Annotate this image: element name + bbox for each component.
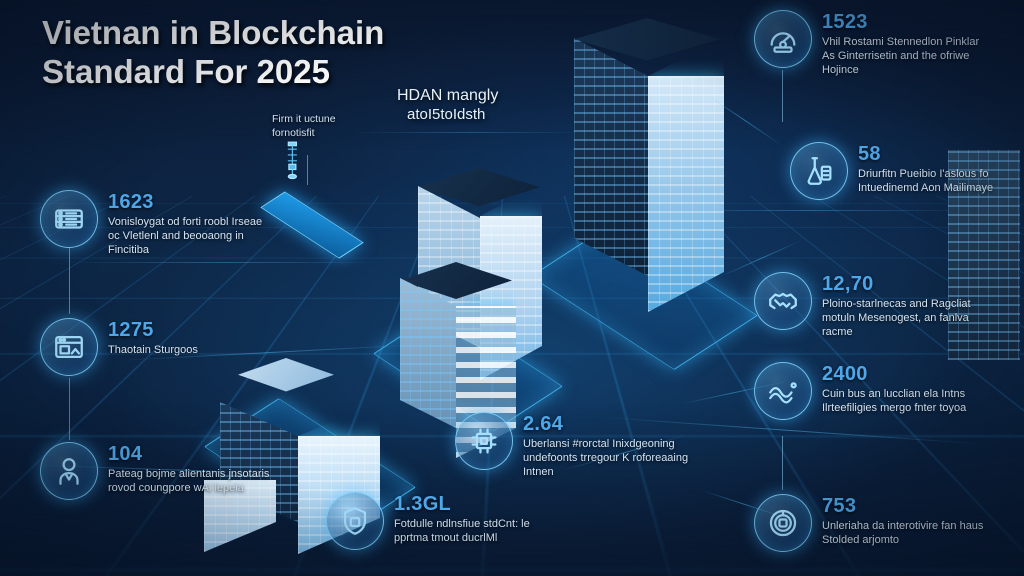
callout-right-3[interactable]: 12,70 Ploino-starlnecas and Ragcliat mot… <box>754 272 1016 339</box>
spiral-chip-icon <box>754 494 812 552</box>
callout-number: 1523 <box>822 12 992 33</box>
tower-left-windows <box>574 38 648 276</box>
microchip-icon <box>455 412 513 470</box>
callout-left-1[interactable]: 1623 Vonisloygat od forti roobl Irseae o… <box>40 190 270 257</box>
callout-right-1[interactable]: 1523 Vhil Rostami Stennedlon Pinklar As … <box>754 10 1016 77</box>
center-subtitle-line2: atoI5toIdsth <box>397 106 498 125</box>
callout-desc: Thaotain Sturgoos <box>108 343 198 357</box>
callout-text: 2400 Cuin bus an lucclian ela Intns Ilrt… <box>822 362 992 415</box>
infographic-canvas: Vietnan in Blockchain Standard For 2025 … <box>0 0 1024 576</box>
callout-left-3[interactable]: 104 Pateag bojme alientanis jnsotaris ro… <box>40 442 270 500</box>
callout-number: 1.3GL <box>394 494 564 515</box>
server-rack-icon <box>40 190 98 248</box>
callout-text: 1623 Vonisloygat od forti roobl Irseae o… <box>108 190 270 257</box>
callout-text: 1275 Thaotain Sturgoos <box>108 318 198 357</box>
callout-desc: Pateag bojme alientanis jnsotaris rovod … <box>108 467 270 495</box>
crane-caption-line2: fornotisfit <box>272 127 336 141</box>
callout-text: 1.3GL Fotdulle ndlnsfiue stdCnt: le pprt… <box>394 492 564 545</box>
connector-stem <box>307 155 308 185</box>
central-tower <box>568 18 740 318</box>
connector-stem <box>782 70 783 122</box>
tower-left-face <box>574 38 648 276</box>
shield-icon <box>326 492 384 550</box>
connector-stem <box>69 248 70 314</box>
callout-desc: Fotdulle ndlnsfiue stdCnt: le pprtma tmo… <box>394 517 564 545</box>
wave-icon <box>754 362 812 420</box>
center-subtitle-line1: HDAN mangly <box>397 86 498 106</box>
callout-number: 58 <box>858 144 1016 165</box>
apartment-left-face <box>400 278 456 428</box>
callout-text: 753 Unleriaha da interotivire fan haus S… <box>822 494 992 547</box>
callout-text: 58 Driurfitn Pueibio I'aslous fo Intuedi… <box>858 142 1016 195</box>
callout-left-2[interactable]: 1275 Thaotain Sturgoos <box>40 318 270 376</box>
callout-desc: Ploino-starlnecas and Ragcliat motuln Me… <box>822 297 992 339</box>
callout-number: 2.64 <box>523 414 693 435</box>
callout-center-1[interactable]: 2.64 Uberlansi #rorctal Inixdgeoning und… <box>455 412 705 479</box>
callout-right-5[interactable]: 753 Unleriaha da interotivire fan haus S… <box>754 494 1016 552</box>
callout-text: 1523 Vhil Rostami Stennedlon Pinklar As … <box>822 10 992 77</box>
callout-number: 1623 <box>108 192 270 213</box>
tower-right-face <box>648 76 724 312</box>
callout-number: 2400 <box>822 364 992 385</box>
callout-right-4[interactable]: 2400 Cuin bus an lucclian ela Intns Ilrt… <box>754 362 1016 420</box>
callout-number: 1275 <box>108 320 198 341</box>
callout-number: 753 <box>822 496 992 517</box>
callout-desc: Vhil Rostami Stennedlon Pinklar As Ginte… <box>822 35 992 77</box>
handshake-icon <box>754 272 812 330</box>
callout-desc: Cuin bus an lucclian ela Intns Ilrteefil… <box>822 387 992 415</box>
callout-desc: Uberlansi #rorctal Inixdgeoning undefoon… <box>523 437 693 479</box>
callout-desc: Vonisloygat od forti roobl Irseae oc Vle… <box>108 215 270 257</box>
callout-bottom-1[interactable]: 1.3GL Fotdulle ndlnsfiue stdCnt: le pprt… <box>326 492 566 550</box>
apartment-left-windows <box>400 278 456 428</box>
callout-number: 104 <box>108 444 270 465</box>
person-badge-icon <box>40 442 98 500</box>
callout-text: 12,70 Ploino-starlnecas and Ragcliat mot… <box>822 272 992 339</box>
gauge-icon <box>754 10 812 68</box>
lab-flask-icon <box>790 142 848 200</box>
callout-text: 2.64 Uberlansi #rorctal Inixdgeoning und… <box>523 412 693 479</box>
tower-right-windows <box>648 76 724 312</box>
callout-number: 12,70 <box>822 274 992 295</box>
page-title: Vietnan in Blockchain Standard For 2025 <box>42 14 472 92</box>
crane-caption: Firm it uctune fornotisfit <box>272 113 336 140</box>
crane-leader-line <box>352 132 587 133</box>
crane-caption-line1: Firm it uctune <box>272 113 336 127</box>
callout-right-2[interactable]: 58 Driurfitn Pueibio I'aslous fo Intuedi… <box>790 142 1016 200</box>
callout-text: 104 Pateag bojme alientanis jnsotaris ro… <box>108 442 270 495</box>
connector-stem <box>782 436 783 490</box>
connector-stem <box>69 378 70 440</box>
callout-desc: Driurfitn Pueibio I'aslous fo Intuedinem… <box>858 167 1016 195</box>
callout-desc: Unleriaha da interotivire fan haus Stold… <box>822 519 992 547</box>
browser-window-icon <box>40 318 98 376</box>
center-subtitle: HDAN mangly atoI5toIdsth <box>397 86 498 125</box>
